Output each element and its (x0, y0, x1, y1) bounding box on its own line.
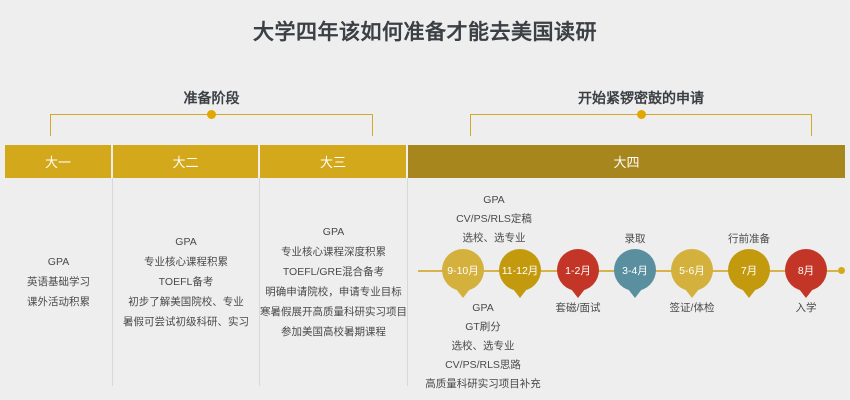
year-column-freshman: GPA英语基础学习课外活动积累 (5, 178, 113, 386)
milestone-label: 3-4月 (622, 263, 648, 278)
note-line: 行前准备 (728, 230, 770, 249)
year-item: 课外活动积累 (27, 292, 90, 312)
timeline-milestone-pin[interactable]: 3-4月 (614, 249, 656, 291)
year-item: 寒暑假展开高质量科研实习项目 (260, 302, 407, 322)
note-line: 签证/体检 (670, 299, 715, 318)
note-line: CV/PS/RLS思路 (425, 356, 541, 375)
note-line: 录取 (625, 230, 646, 249)
timeline-milestone-pin[interactable]: 9-10月 (442, 249, 484, 291)
year-item: TOEFL备考 (159, 272, 214, 292)
year-item: 明确申请院校，申请专业目标 (265, 282, 402, 302)
note-line: GT刷分 (425, 318, 541, 337)
milestone-label: 9-10月 (447, 263, 479, 278)
year-item: 参加美国高校暑期课程 (281, 322, 386, 342)
phase-bracket-1: 开始紧锣密鼓的申请 (470, 88, 812, 146)
timeline-milestone-pin[interactable]: 7月 (728, 249, 770, 291)
page-title: 大学四年该如何准备才能去美国读研 (0, 16, 850, 46)
timeline-note-below: 入学 (796, 299, 817, 318)
timeline-milestone-pin[interactable]: 8月 (785, 249, 827, 291)
year-header-bar: 大一大二大三大四 (5, 145, 845, 178)
bracket-center-dot (637, 110, 646, 119)
note-line: 入学 (796, 299, 817, 318)
milestone-label: 1-2月 (565, 263, 591, 278)
note-line: CV/PS/RLS定稿 (456, 210, 532, 229)
note-line: GPA (425, 299, 541, 318)
year-item: GPA (175, 232, 196, 252)
timeline-end-dot (838, 267, 845, 274)
note-line: 选校、选专业 (425, 337, 541, 356)
phase-label: 准备阶段 (50, 88, 373, 108)
year-item: 暑假可尝试初级科研、实习 (123, 312, 249, 332)
year-header-sophomore[interactable]: 大二 (113, 145, 260, 178)
year-item: GPA (48, 252, 69, 272)
year-column-sophomore: GPA专业核心课程积累TOEFL备考初步了解美国院校、专业暑假可尝试初级科研、实… (113, 178, 260, 386)
note-line: 选校、选专业 (456, 229, 532, 248)
bracket-center-dot (207, 110, 216, 119)
year-item: 英语基础学习 (27, 272, 90, 292)
year-header-senior[interactable]: 大四 (408, 145, 845, 178)
milestone-label: 8月 (798, 263, 814, 278)
phase-label: 开始紧锣密鼓的申请 (470, 88, 812, 108)
year-item: TOEFL/GRE混合备考 (283, 262, 384, 282)
phase-bracket-0: 准备阶段 (50, 88, 373, 146)
year-item: 初步了解美国院校、专业 (128, 292, 244, 312)
note-line: 高质量科研实习项目补充 (425, 375, 541, 394)
timeline-note-above: 行前准备 (728, 230, 770, 249)
timeline-note-below: 套磁/面试 (556, 299, 601, 318)
note-line: GPA (456, 191, 532, 210)
note-line: 套磁/面试 (556, 299, 601, 318)
infographic-root: 大学四年该如何准备才能去美国读研 准备阶段开始紧锣密鼓的申请 大一大二大三大四 … (0, 0, 850, 400)
milestone-label: 11-12月 (502, 263, 539, 278)
milestone-label: 5-6月 (679, 263, 705, 278)
year-column-junior: GPA专业核心课程深度积累TOEFL/GRE混合备考明确申请院校，申请专业目标寒… (260, 178, 408, 386)
timeline-note-below: GPAGT刷分选校、选专业CV/PS/RLS思路高质量科研实习项目补充 (425, 299, 541, 394)
timeline-note-above: GPACV/PS/RLS定稿选校、选专业 (456, 191, 532, 248)
timeline-note-above: 录取 (625, 230, 646, 249)
year-header-junior[interactable]: 大三 (260, 145, 408, 178)
milestone-label: 7月 (741, 263, 757, 278)
year-item: GPA (323, 222, 344, 242)
year-content-row: GPA英语基础学习课外活动积累GPA专业核心课程积累TOEFL备考初步了解美国院… (5, 178, 845, 386)
timeline-milestone-pin[interactable]: 11-12月 (499, 249, 541, 291)
timeline-milestone-pin[interactable]: 1-2月 (557, 249, 599, 291)
year-header-freshman[interactable]: 大一 (5, 145, 113, 178)
timeline-note-below: 签证/体检 (670, 299, 715, 318)
year-column-senior: 9-10月11-12月1-2月3-4月5-6月7月8月GPACV/PS/RLS定… (408, 178, 845, 386)
timeline-milestone-pin[interactable]: 5-6月 (671, 249, 713, 291)
year-item: 专业核心课程深度积累 (281, 242, 386, 262)
year-item: 专业核心课程积累 (144, 252, 228, 272)
